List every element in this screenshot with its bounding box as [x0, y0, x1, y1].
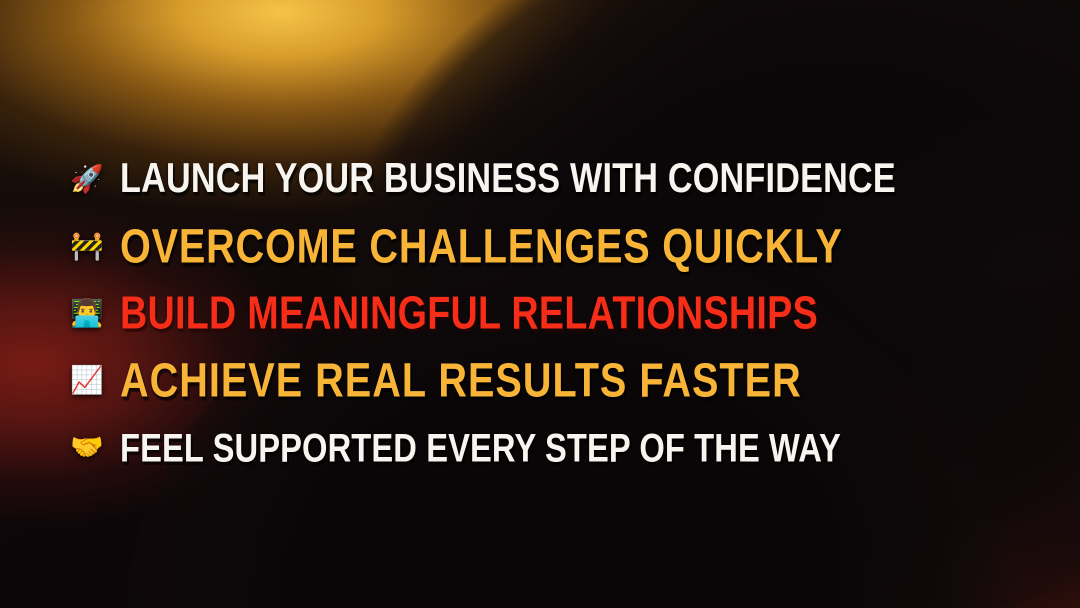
list-item: 🚧 OVERCOME CHALLENGES QUICKLY — [70, 213, 1015, 280]
list-item-label: ACHIEVE REAL RESULTS FASTER — [120, 356, 1007, 404]
list-item-label: BUILD MEANINGFUL RELATIONSHIPS — [120, 291, 1007, 337]
list-item: 🤝 FEEL SUPPORTED EVERY STEP OF THE WAY — [70, 414, 1015, 481]
list-item-label: FEEL SUPPORTED EVERY STEP OF THE WAY — [120, 428, 1007, 468]
list-item-label: OVERCOME CHALLENGES QUICKLY — [120, 222, 1007, 270]
list-item-label: LAUNCH YOUR BUSINESS WITH CONFIDENCE — [120, 159, 1007, 201]
list-item: 📈 ACHIEVE REAL RESULTS FASTER — [70, 347, 1015, 414]
technologist-icon: 👨‍💻 — [70, 300, 120, 327]
chart-increasing-icon: 📈 — [70, 367, 120, 394]
rocket-icon: 🚀 — [70, 166, 120, 193]
slide-canvas: 🚀 LAUNCH YOUR BUSINESS WITH CONFIDENCE 🚧… — [0, 0, 1080, 608]
list-item: 🚀 LAUNCH YOUR BUSINESS WITH CONFIDENCE — [70, 146, 1015, 213]
benefit-list: 🚀 LAUNCH YOUR BUSINESS WITH CONFIDENCE 🚧… — [70, 146, 1015, 481]
handshake-icon: 🤝 — [70, 434, 120, 461]
list-item: 👨‍💻 BUILD MEANINGFUL RELATIONSHIPS — [70, 280, 1015, 347]
construction-barrier-icon: 🚧 — [70, 233, 120, 260]
